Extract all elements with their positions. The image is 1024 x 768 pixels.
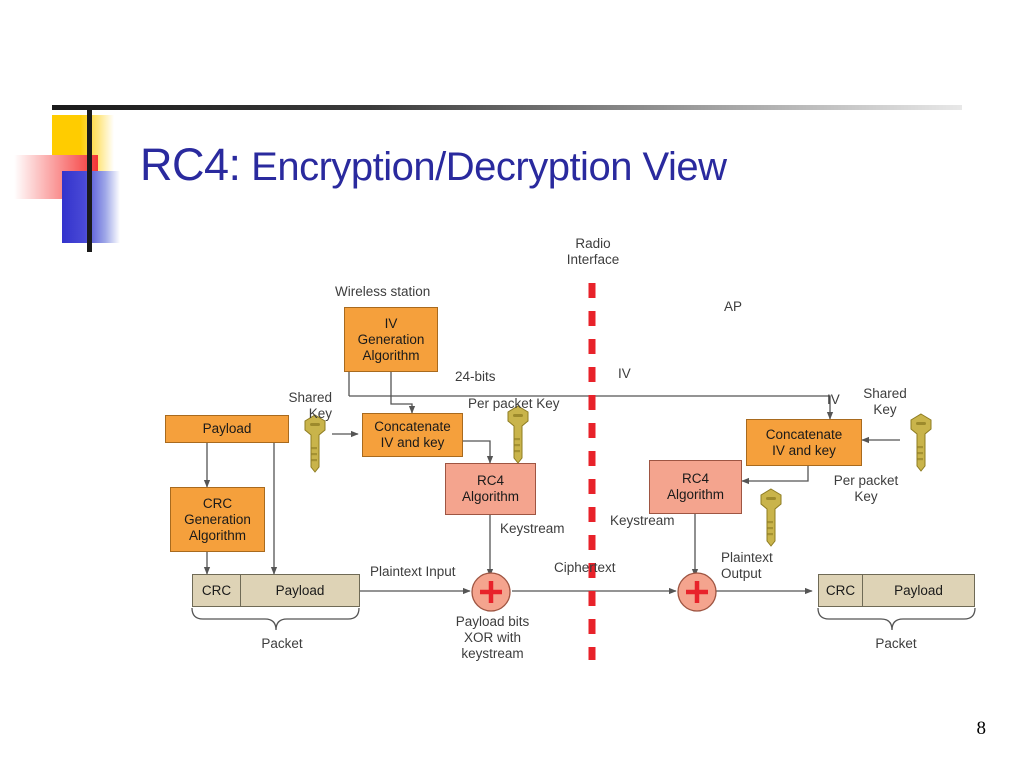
box-concatenate-right[interactable]: Concatenate IV and key <box>746 419 862 466</box>
key-icon-shared-right <box>906 412 936 474</box>
packet-right-payload-cell: Payload <box>863 575 974 606</box>
radio-interface-label: Radio Interface <box>548 236 638 268</box>
packet-left-crc-cell: CRC <box>193 575 241 606</box>
key-icon-shared-left <box>300 413 330 475</box>
xor-right[interactable] <box>676 571 718 613</box>
box-rc4-left[interactable]: RC4 Algorithm <box>445 463 536 515</box>
box-iv-generation[interactable]: IV Generation Algorithm <box>344 307 438 372</box>
label-plaintext-output: Plaintext Output <box>721 550 773 582</box>
slide-number: 8 <box>977 718 987 740</box>
box-crc-generation[interactable]: CRC Generation Algorithm <box>170 487 265 552</box>
packet-brace-right <box>818 608 975 630</box>
label-keystream-left: Keystream <box>500 521 565 537</box>
label-ciphertext: Ciphertext <box>554 560 616 576</box>
key-icon-per-packet-left <box>503 404 533 466</box>
ap-label: AP <box>724 299 742 315</box>
label-shared-key-right: Shared Key <box>852 386 918 418</box>
box-concatenate-left[interactable]: Concatenate IV and key <box>362 413 463 457</box>
label-iv-right: IV <box>827 392 840 408</box>
packet-brace-left <box>192 608 359 630</box>
wireless-station-label: Wireless station <box>335 284 430 300</box>
box-rc4-right[interactable]: RC4 Algorithm <box>649 460 742 514</box>
packet-right[interactable]: CRC Payload <box>818 574 975 607</box>
label-per-packet-key-right: Per packet Key <box>820 473 912 505</box>
xor-left[interactable] <box>470 571 512 613</box>
label-iv-mid: IV <box>618 366 631 382</box>
label-24-bits: 24-bits <box>455 369 496 385</box>
packet-left-brace-label: Packet <box>236 636 328 652</box>
packet-right-crc-cell: CRC <box>819 575 863 606</box>
label-plaintext-input: Plaintext Input <box>370 564 456 580</box>
label-xor-note: Payload bits XOR with keystream <box>435 614 550 662</box>
label-per-packet-key-left: Per packet Key <box>468 396 560 412</box>
label-keystream-right: Keystream <box>610 513 675 529</box>
key-icon-per-packet-right <box>756 487 786 549</box>
packet-left-payload-cell: Payload <box>241 575 359 606</box>
packet-left[interactable]: CRC Payload <box>192 574 360 607</box>
rc4-flow-diagram: Radio Interface Wireless station AP IV G… <box>0 0 1024 768</box>
packet-right-brace-label: Packet <box>850 636 942 652</box>
label-shared-key-left: Shared Key <box>240 390 332 422</box>
